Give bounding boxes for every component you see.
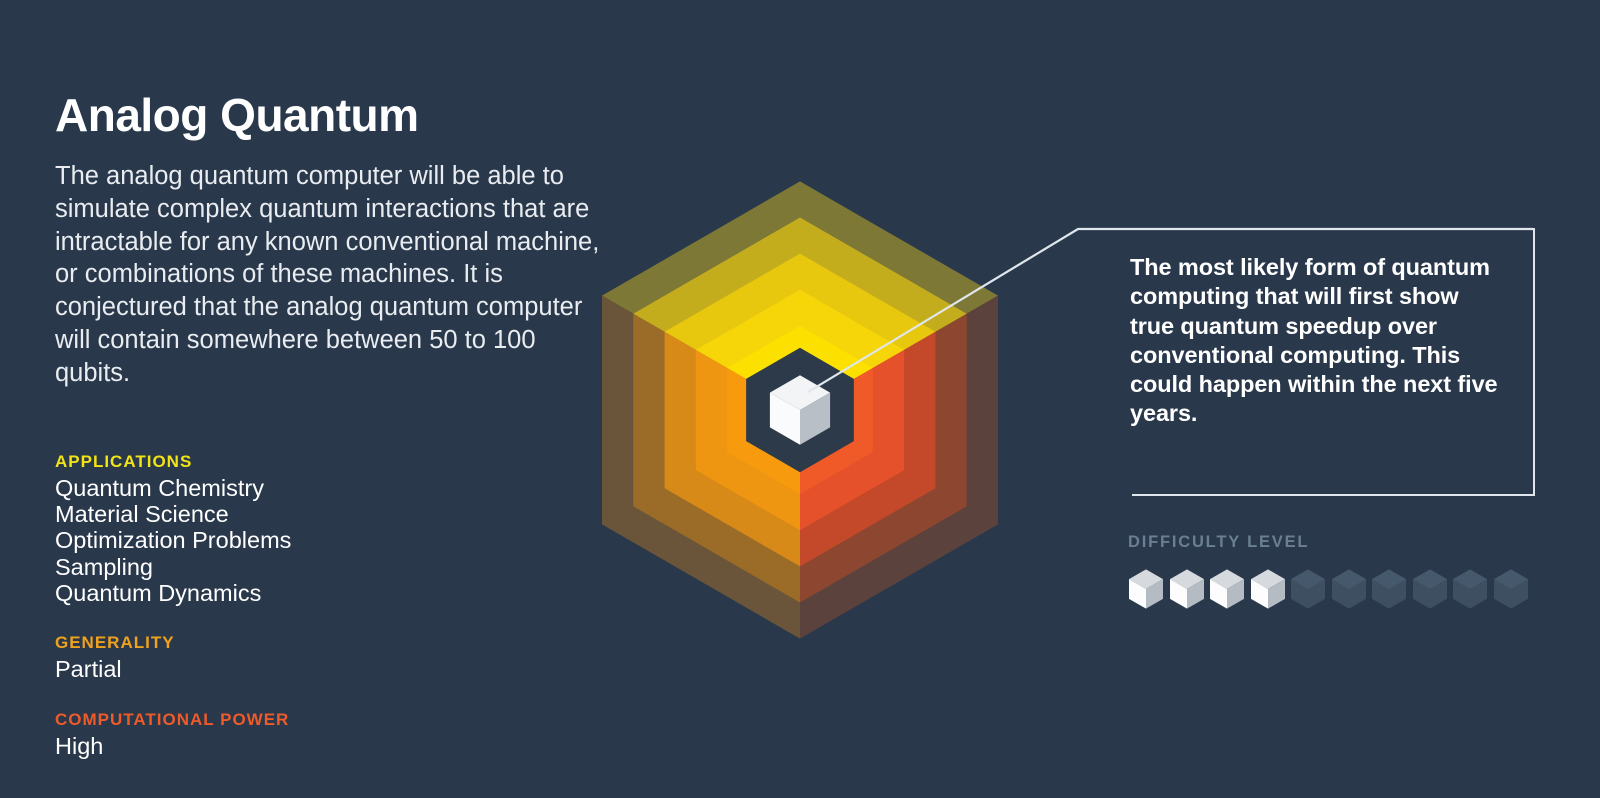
difficulty-cube-empty — [1371, 568, 1407, 610]
difficulty-cube-filled — [1128, 568, 1164, 610]
generality-section: GENERALITY Partial — [55, 633, 175, 682]
computational-power-value: High — [55, 733, 289, 759]
callout-right-border — [1533, 228, 1535, 496]
applications-label: APPLICATIONS — [55, 452, 291, 472]
application-item: Quantum Dynamics — [55, 580, 291, 606]
difficulty-level-label: DIFFICULTY LEVEL — [1128, 533, 1529, 552]
difficulty-meter — [1128, 568, 1529, 610]
difficulty-cube-filled — [1209, 568, 1245, 610]
application-item: Optimization Problems — [55, 527, 291, 553]
nested-cube-svg — [600, 185, 1000, 635]
applications-section: APPLICATIONS Quantum Chemistry Material … — [55, 452, 291, 606]
computational-power-section: COMPUTATIONAL POWER High — [55, 710, 289, 759]
page-title: Analog Quantum — [55, 92, 615, 138]
difficulty-cube-empty — [1412, 568, 1448, 610]
difficulty-cube-filled — [1250, 568, 1286, 610]
application-item: Quantum Chemistry — [55, 475, 291, 501]
callout-box: The most likely form of quantum computin… — [1110, 228, 1535, 496]
difficulty-cube-empty — [1290, 568, 1326, 610]
difficulty-cube-empty — [1452, 568, 1488, 610]
description-text: The analog quantum computer will be able… — [55, 160, 600, 389]
infographic-panel: Analog Quantum The analog quantum comput… — [0, 0, 1600, 798]
callout-bottom-border — [1132, 494, 1535, 496]
callout-text: The most likely form of quantum computin… — [1130, 253, 1502, 429]
difficulty-cube-empty — [1331, 568, 1367, 610]
application-item: Material Science — [55, 501, 291, 527]
computational-power-label: COMPUTATIONAL POWER — [55, 710, 289, 730]
difficulty-cube-filled — [1169, 568, 1205, 610]
difficulty-cube-empty — [1493, 568, 1529, 610]
generality-value: Partial — [55, 656, 175, 682]
generality-label: GENERALITY — [55, 633, 175, 653]
difficulty-section: DIFFICULTY LEVEL — [1128, 533, 1529, 610]
left-column: Analog Quantum The analog quantum comput… — [55, 92, 615, 389]
application-item: Sampling — [55, 554, 291, 580]
nested-cube-diagram — [600, 185, 1000, 635]
